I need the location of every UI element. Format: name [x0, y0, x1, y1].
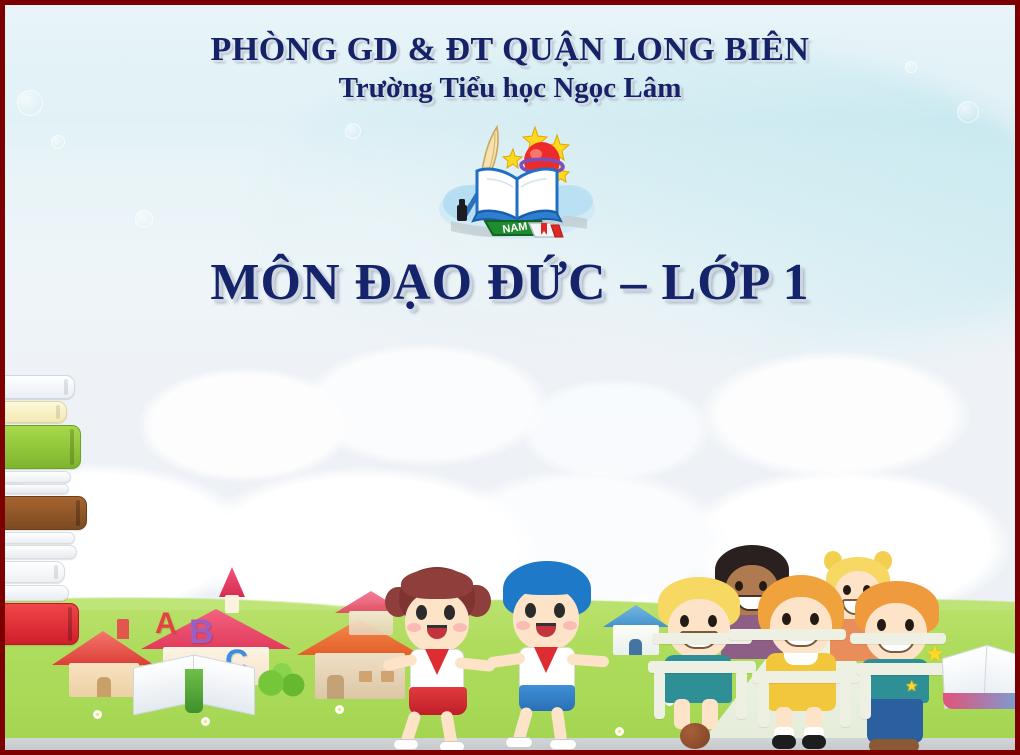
school-emblem: NAM	[437, 109, 597, 249]
page-title: MÔN ĐẠO ĐỨC – LỚP 1	[5, 253, 1015, 312]
child-eye-right	[810, 613, 819, 625]
book-cover	[943, 693, 1020, 709]
house-door	[629, 639, 642, 655]
open-book-right	[943, 645, 1020, 717]
child-shoe-left	[772, 735, 796, 749]
bench-back-mid	[728, 629, 846, 640]
bench-leg-right-1	[860, 673, 871, 719]
boy-eye-left	[525, 603, 536, 618]
book-red	[5, 603, 79, 645]
child-eye-left	[782, 613, 791, 625]
bench-leg-left-2	[736, 671, 747, 719]
book-green	[5, 425, 81, 469]
child-ball	[680, 723, 710, 749]
girl-cheek-left	[407, 623, 421, 632]
child-eye-left	[843, 585, 851, 595]
child-eye-right	[708, 615, 717, 627]
bench-leg-mid-1	[758, 681, 769, 727]
book-white-5	[5, 545, 77, 559]
girl-face	[405, 591, 469, 653]
bubble-decoration	[345, 123, 361, 139]
flower-decoration	[93, 710, 102, 719]
boy-cheek-right	[563, 621, 577, 630]
book-white-7	[5, 585, 69, 601]
bubble-decoration	[135, 210, 153, 228]
boy-shoe-right	[549, 739, 577, 750]
flower-decoration	[615, 727, 624, 736]
book-white-3	[5, 484, 69, 494]
boy-eye-right	[554, 603, 565, 618]
girl-shoe-left	[393, 739, 419, 750]
bench-children-group	[650, 545, 940, 755]
girl-eye-left	[416, 605, 427, 620]
header-line-2: Trường Tiểu học Ngọc Lâm	[5, 71, 1015, 106]
child-face	[668, 599, 730, 659]
star-icon: ★	[925, 641, 945, 667]
letter-a-icon: A	[155, 607, 177, 641]
bubble-decoration	[51, 135, 65, 149]
child-eye-right	[905, 619, 914, 631]
book-white-4	[5, 532, 75, 544]
running-girl	[385, 561, 505, 751]
child-collar	[784, 653, 818, 665]
girl-fringe	[401, 569, 473, 599]
running-boy	[495, 557, 615, 752]
child-face	[770, 597, 832, 657]
open-book-left	[133, 653, 255, 715]
bench-leg-mid-2	[840, 681, 851, 727]
house-door	[327, 675, 344, 699]
bench-leg-left-1	[654, 671, 665, 719]
presentation-slide: A B C	[0, 0, 1020, 755]
girl-shoe-right	[439, 741, 465, 752]
boy-face	[513, 587, 579, 651]
bench-child-orange-yellow	[758, 575, 844, 755]
book-white-6	[5, 561, 65, 583]
letter-b-icon: B	[189, 613, 214, 652]
book-stack	[5, 375, 79, 675]
flower-decoration	[201, 717, 210, 726]
boy-cheek-left	[516, 621, 530, 630]
girl-cheek-right	[453, 623, 467, 632]
header-block: PHÒNG GD & ĐT QUẬN LONG BIÊN Trường Tiểu…	[5, 31, 1015, 106]
child-shoe-right	[802, 735, 826, 749]
boy-fringe	[507, 567, 587, 595]
child-pants	[867, 699, 923, 743]
book-white-1	[5, 375, 75, 399]
book-brown	[5, 496, 87, 530]
flower-decoration	[335, 705, 344, 714]
girl-skirt	[409, 687, 467, 715]
child-eye-left	[680, 615, 689, 627]
child-eye-left	[877, 619, 886, 631]
child-shoe	[869, 739, 919, 753]
star-icon: ★	[905, 677, 918, 696]
book-cream	[5, 401, 67, 423]
child-leg-right	[702, 699, 718, 729]
book-white-2	[5, 471, 71, 483]
chimney	[117, 619, 129, 639]
header-line-1: PHÒNG GD & ĐT QUẬN LONG BIÊN	[5, 31, 1015, 69]
book-spine	[185, 669, 203, 713]
girl-eye-right	[444, 605, 455, 620]
house-window	[359, 671, 372, 682]
boy-shoe-left	[505, 737, 533, 748]
house-door	[97, 677, 111, 697]
